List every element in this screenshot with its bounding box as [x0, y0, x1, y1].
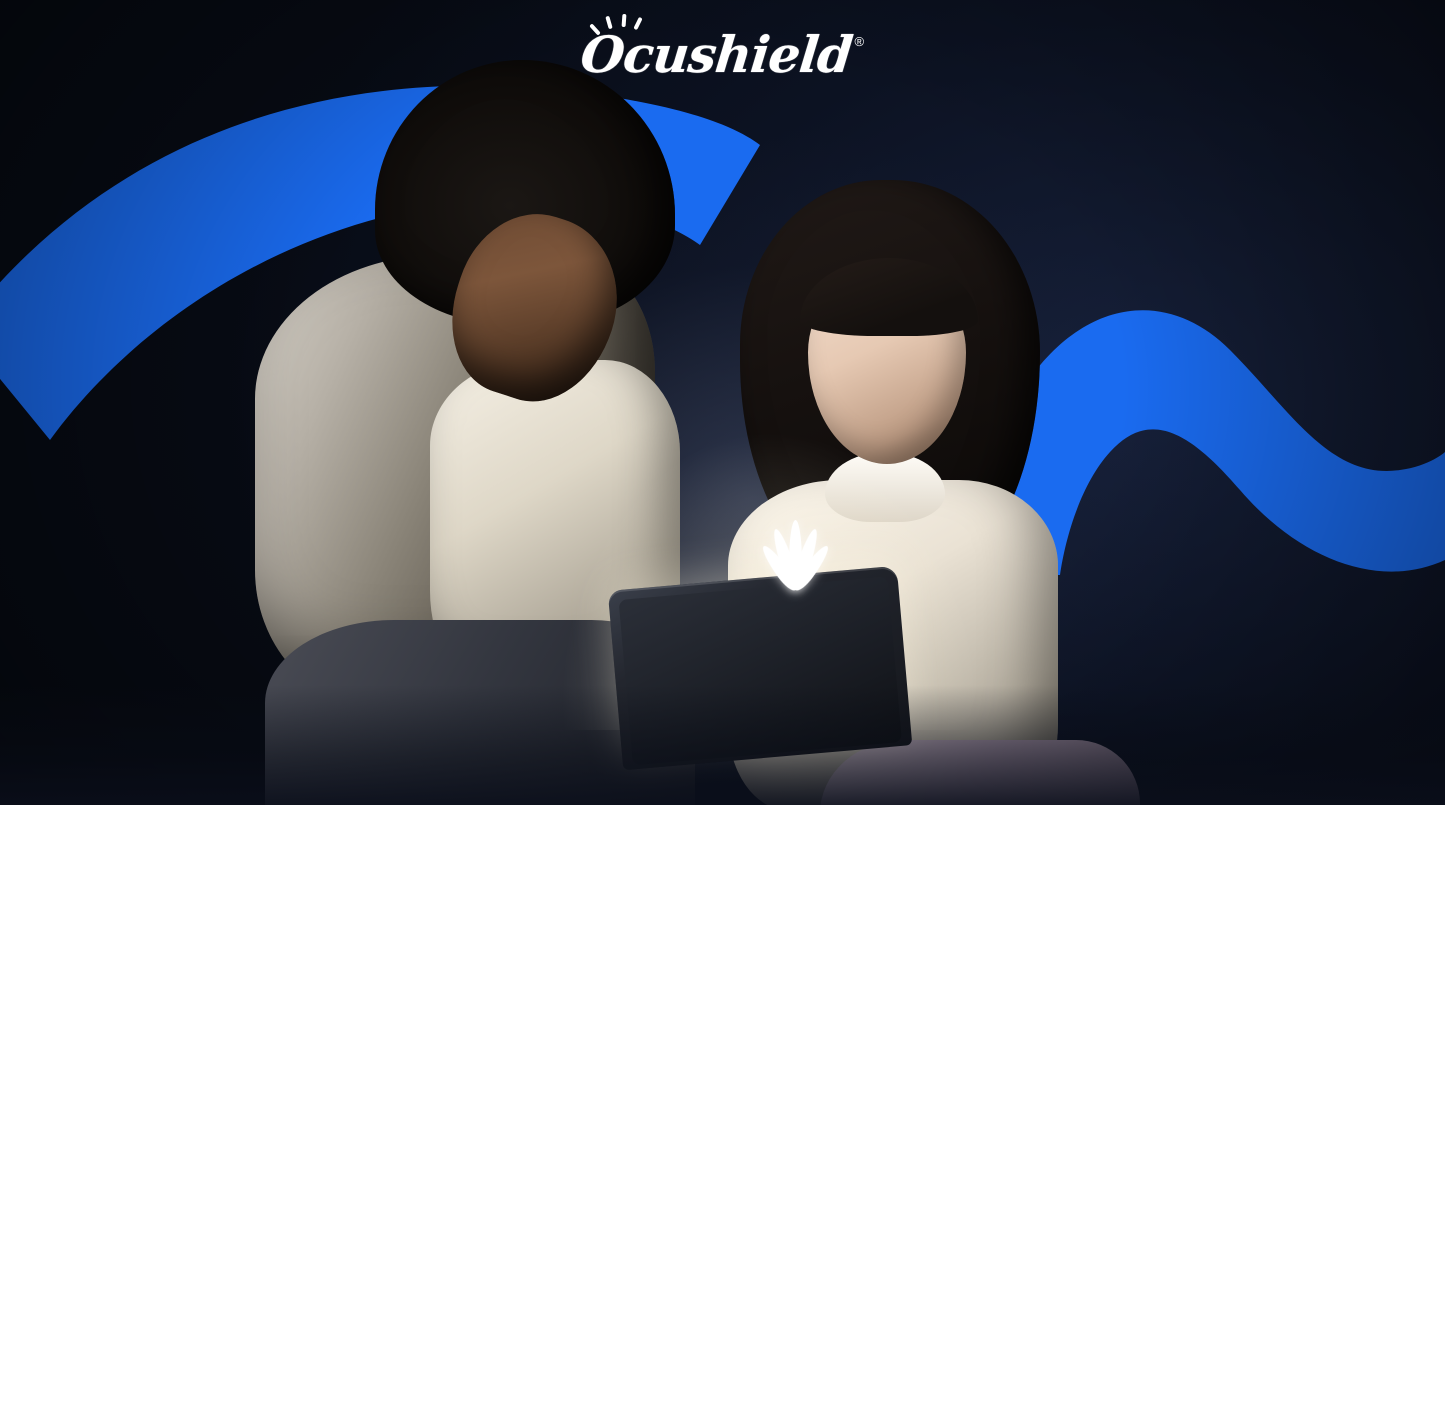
- hero-section: Ocushield ®: [0, 0, 1445, 805]
- registered-trademark-symbol: ®: [855, 34, 865, 49]
- advertisement-banner: Ocushield ® Harmful blue light may cause…: [0, 0, 1445, 1406]
- brand-logo: Ocushield ®: [0, 30, 1445, 80]
- logo-wordmark: Ocushield: [578, 30, 854, 80]
- hero-bottom-fade: [0, 685, 1445, 805]
- benefits-section: Harmful blue light may cause: Headaches …: [0, 805, 1445, 1406]
- screen-glow-rays-icon: [735, 500, 855, 590]
